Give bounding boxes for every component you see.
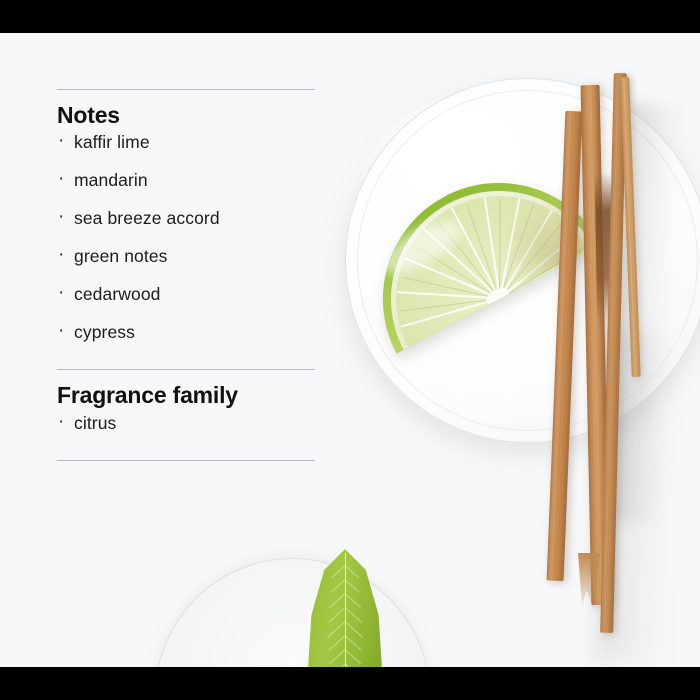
fragrance-family-list: citrus	[57, 415, 315, 433]
divider-top	[57, 89, 315, 90]
lime-segment-divider	[400, 298, 499, 328]
list-item: green notes	[57, 248, 315, 266]
list-item: cedarwood	[57, 286, 315, 304]
list-item: sea breeze accord	[57, 210, 315, 228]
divider-bottom	[57, 460, 315, 461]
divider-middle	[57, 369, 315, 370]
letterbox-bar-bottom	[0, 667, 700, 700]
lower-plate-ring	[155, 558, 430, 667]
fragrance-family-heading: Fragrance family	[57, 383, 315, 408]
list-item: mandarin	[57, 172, 315, 190]
green-leaf	[305, 549, 385, 667]
image-canvas: Notes kaffir lime mandarin sea breeze ac…	[0, 0, 700, 700]
list-item: kaffir lime	[57, 134, 315, 152]
product-photograph: Notes kaffir lime mandarin sea breeze ac…	[0, 33, 700, 667]
notes-list: kaffir lime mandarin sea breeze accord g…	[57, 134, 315, 342]
letterbox-bar-top	[0, 0, 700, 33]
lime-segment-shade	[400, 298, 499, 311]
list-item: citrus	[57, 415, 315, 433]
list-item: cypress	[57, 324, 315, 342]
notes-heading: Notes	[57, 103, 315, 128]
fragrance-details-panel: Notes kaffir lime mandarin sea breeze ac…	[57, 89, 315, 461]
